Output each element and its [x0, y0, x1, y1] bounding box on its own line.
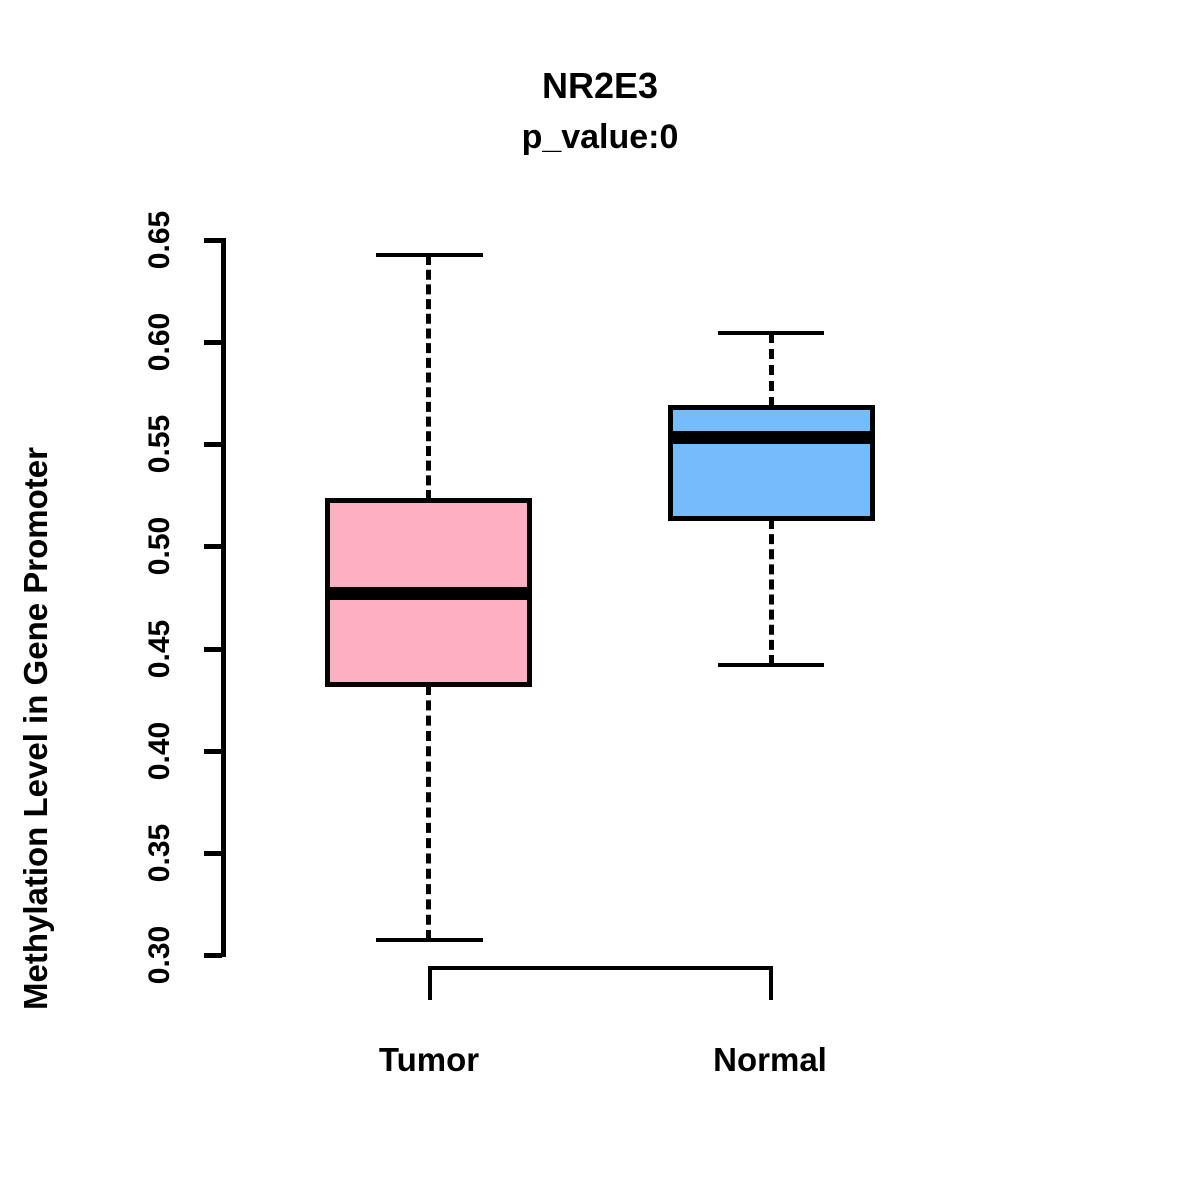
whisker-cap-upper-normal: [718, 331, 824, 335]
median-line-normal: [668, 431, 875, 444]
whisker-upper-normal: [769, 333, 774, 407]
y-axis-tick-label: 0.30: [145, 895, 175, 1015]
box-normal[interactable]: [668, 405, 875, 521]
significance-bracket-leg-right: [769, 966, 773, 1000]
y-axis-line: [221, 238, 226, 957]
boxplot-figure: NR2E3 p_value:0 Methylation Level in Gen…: [0, 0, 1200, 1200]
whisker-upper-tumor: [426, 255, 431, 500]
median-line-tumor: [325, 587, 532, 600]
y-axis-tick: [204, 953, 222, 958]
y-axis-tick-label: 0.50: [145, 486, 175, 606]
y-axis-title: Methylation Level in Gene Promoter: [4, 0, 68, 1010]
x-axis-label-normal: Normal: [670, 1040, 870, 1080]
whisker-cap-lower-normal: [718, 663, 824, 667]
y-axis-tick: [204, 544, 222, 549]
chart-subtitle: p_value:0: [0, 120, 1200, 154]
chart-title: NR2E3: [0, 68, 1200, 104]
whisker-cap-lower-tumor: [376, 938, 483, 942]
x-axis-label-tumor: Tumor: [329, 1040, 529, 1080]
y-axis-tick: [204, 851, 222, 856]
y-axis-tick: [204, 442, 222, 447]
significance-bracket-leg-left: [428, 966, 432, 1000]
y-axis-tick: [204, 238, 222, 243]
y-axis-tick: [204, 749, 222, 754]
y-axis-tick: [204, 340, 222, 345]
whisker-lower-normal: [769, 519, 774, 665]
y-axis-tick: [204, 647, 222, 652]
significance-bracket-top: [428, 966, 773, 970]
whisker-lower-tumor: [426, 685, 431, 940]
whisker-cap-upper-tumor: [376, 253, 483, 257]
